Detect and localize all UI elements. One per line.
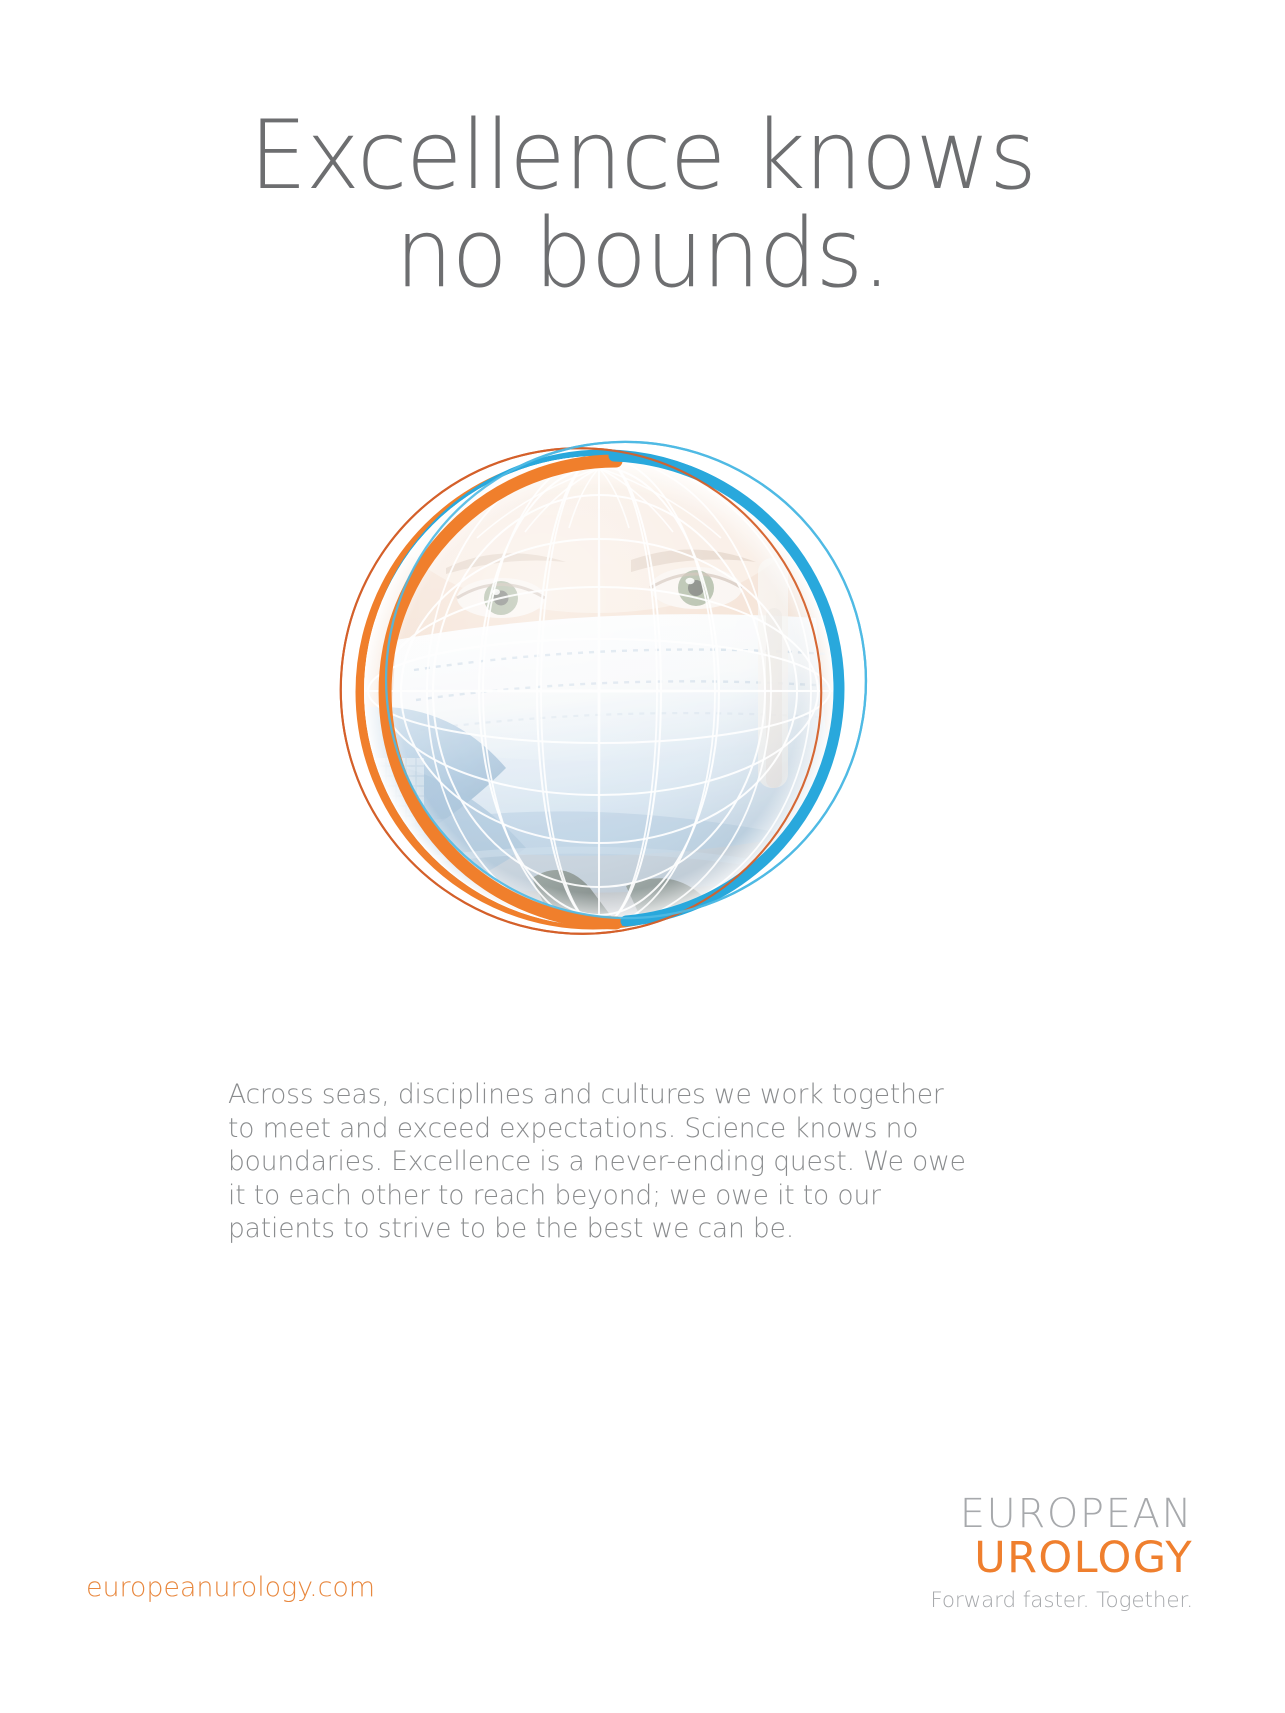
page-title: Excellence knows no bounds. — [0, 108, 1285, 304]
body-copy: Across seas, disciplines and cultures we… — [228, 1078, 968, 1246]
headline-line-1: Excellence knows — [26, 108, 1260, 206]
website-url-link[interactable]: europeanurology.com — [86, 1572, 375, 1603]
logo-word-urology: UROLOGY — [893, 1536, 1193, 1581]
advertisement-page: Excellence knows no bounds. — [0, 0, 1285, 1713]
logo-tagline: Forward faster. Together. — [893, 1588, 1193, 1613]
european-urology-logo: EUROPEAN UROLOGY Forward faster. Togethe… — [893, 1494, 1193, 1613]
logo-word-european: EUROPEAN — [893, 1494, 1193, 1535]
globe-surgeon-image — [296, 408, 896, 968]
headline-line-2: no bounds. — [26, 206, 1260, 304]
